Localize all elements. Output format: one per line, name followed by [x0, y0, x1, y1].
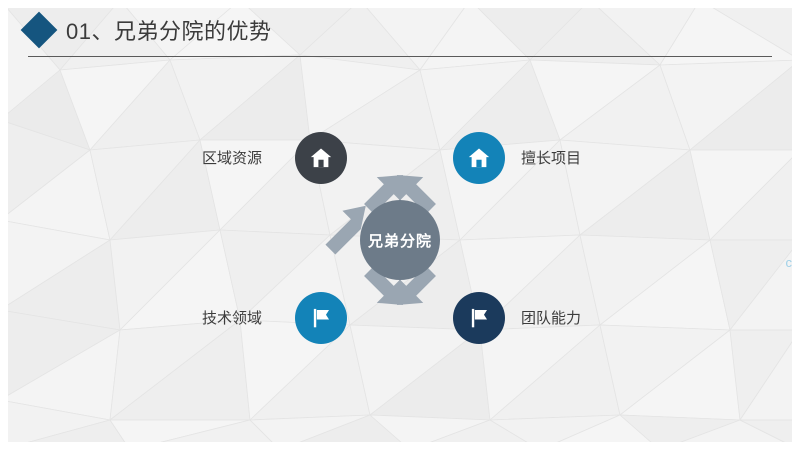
center-node-label: 兄弟分院: [368, 230, 432, 251]
node-label-bottom-left: 技术领域: [202, 307, 262, 328]
node-circle-top-left[interactable]: [295, 132, 347, 184]
node-circle-top-right[interactable]: [453, 132, 505, 184]
diamond-bullet-icon: [21, 12, 58, 49]
watermark-text: c: [786, 255, 793, 270]
node-label-bottom-right: 团队能力: [521, 307, 581, 328]
title-divider: [28, 56, 772, 57]
home-icon: [308, 145, 334, 171]
home-icon: [466, 145, 492, 171]
slide-header: 01、兄弟分院的优势: [0, 0, 800, 62]
hub-and-spoke-diagram: 兄弟分院 区域资源 擅长项目 技术领域: [0, 0, 800, 450]
node-label-top-right: 擅长项目: [521, 147, 581, 168]
node-circle-bottom-left[interactable]: [295, 292, 347, 344]
slide-canvas: 01、兄弟分院的优势 c 兄弟分院: [0, 0, 800, 450]
diagram-center-node: 兄弟分院: [360, 200, 440, 280]
flag-icon: [466, 305, 492, 331]
node-label-top-left: 区域资源: [202, 147, 262, 168]
page-title: 01、兄弟分院的优势: [66, 14, 271, 46]
node-circle-bottom-right[interactable]: [453, 292, 505, 344]
flag-icon: [308, 305, 334, 331]
